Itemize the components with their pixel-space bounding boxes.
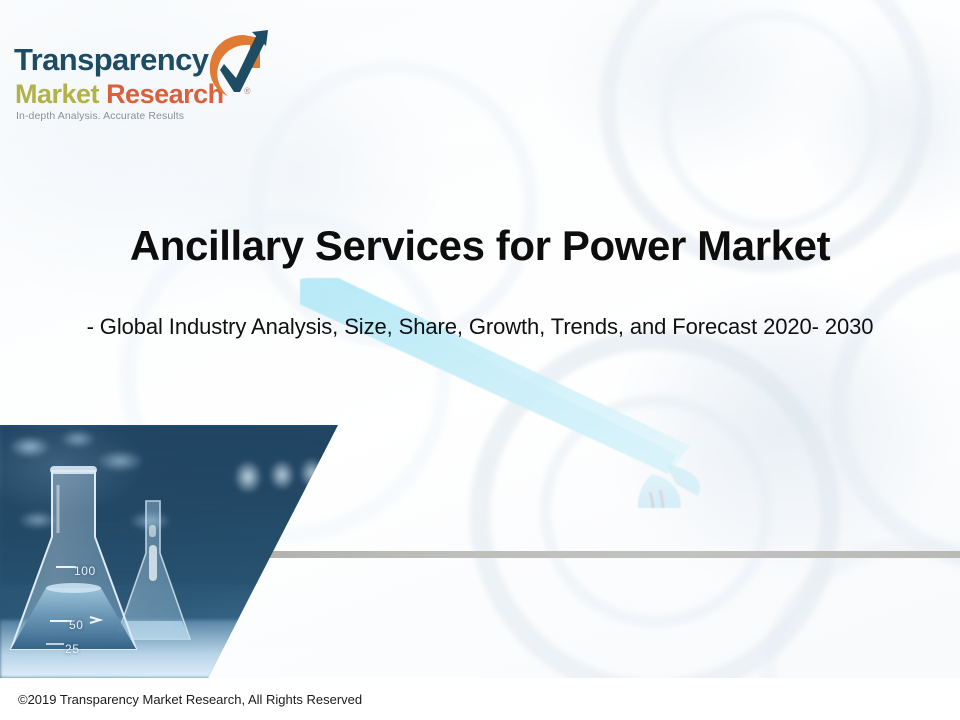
flask-marking-100: 100 (74, 564, 96, 578)
copyright-notice: ©2019 Transparency Market Research, All … (18, 692, 362, 707)
page-subtitle: - Global Industry Analysis, Size, Share,… (0, 314, 960, 340)
logo-second-line: Market Research (15, 79, 224, 110)
page-title: Ancillary Services for Power Market (0, 222, 960, 270)
report-cover-slide: Transparency Market Research In-depth An… (0, 0, 960, 720)
logo-market-text: Market (15, 79, 99, 109)
logo-wordmark: Transparency (14, 42, 208, 78)
flask-marking-25: 25 (65, 642, 80, 656)
checkmark-arrow-swoosh-icon (200, 26, 272, 104)
registered-trademark-symbol: ® (244, 86, 251, 96)
flask-marking-50: 50 (69, 618, 84, 632)
logo-tagline: In-depth Analysis. Accurate Results (16, 110, 184, 122)
company-logo: Transparency Market Research In-depth An… (14, 26, 274, 136)
divider (250, 551, 960, 558)
